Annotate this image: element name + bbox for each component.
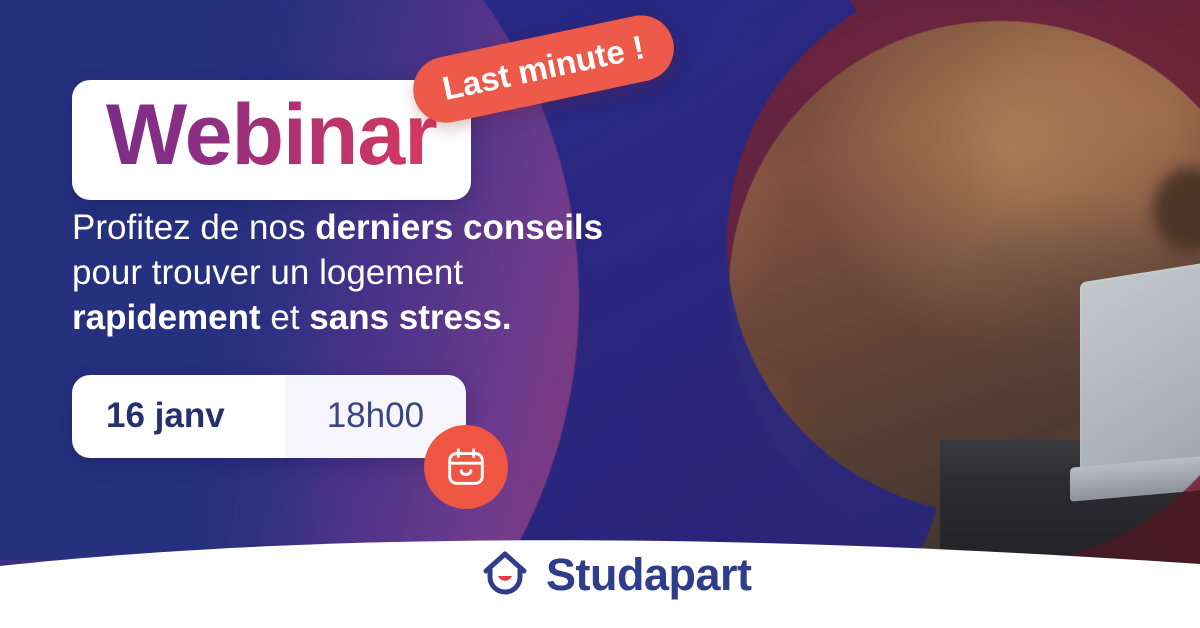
subtitle-line-3-bold-b: sans stress.: [309, 298, 511, 337]
subtitle-line-1-bold: derniers conseils: [315, 208, 603, 247]
calendar-icon-circle: [424, 425, 508, 509]
subtitle-line-3-bold-a: rapidement: [72, 298, 261, 337]
studapart-logo: Studapart: [478, 548, 752, 600]
event-date-time-pill: 16 janv 18h00: [72, 375, 466, 458]
subtitle-line-1-normal: Profitez de nos: [72, 208, 315, 247]
subtitle-line-3: rapidement et sans stress.: [72, 296, 672, 341]
last-minute-badge: Last minute !: [407, 9, 680, 129]
subtitle-line-2: pour trouver un logement: [72, 251, 672, 296]
promo-banner: Webinar Last minute ! Profitez de nos de…: [0, 0, 1200, 628]
calendar-icon: [443, 444, 489, 490]
studapart-house-icon: [478, 548, 532, 600]
page-title: Webinar: [106, 92, 437, 180]
studapart-wordmark: Studapart: [546, 552, 752, 597]
subtitle-line-3-normal: et: [261, 298, 310, 337]
event-date: 16 janv: [72, 375, 285, 458]
webinar-title-card: Webinar: [72, 80, 471, 200]
subtitle-text: Profitez de nos derniers conseils pour t…: [72, 206, 672, 340]
subtitle-line-1: Profitez de nos derniers conseils: [72, 206, 672, 251]
content-layer: Webinar Last minute ! Profitez de nos de…: [0, 0, 1200, 628]
